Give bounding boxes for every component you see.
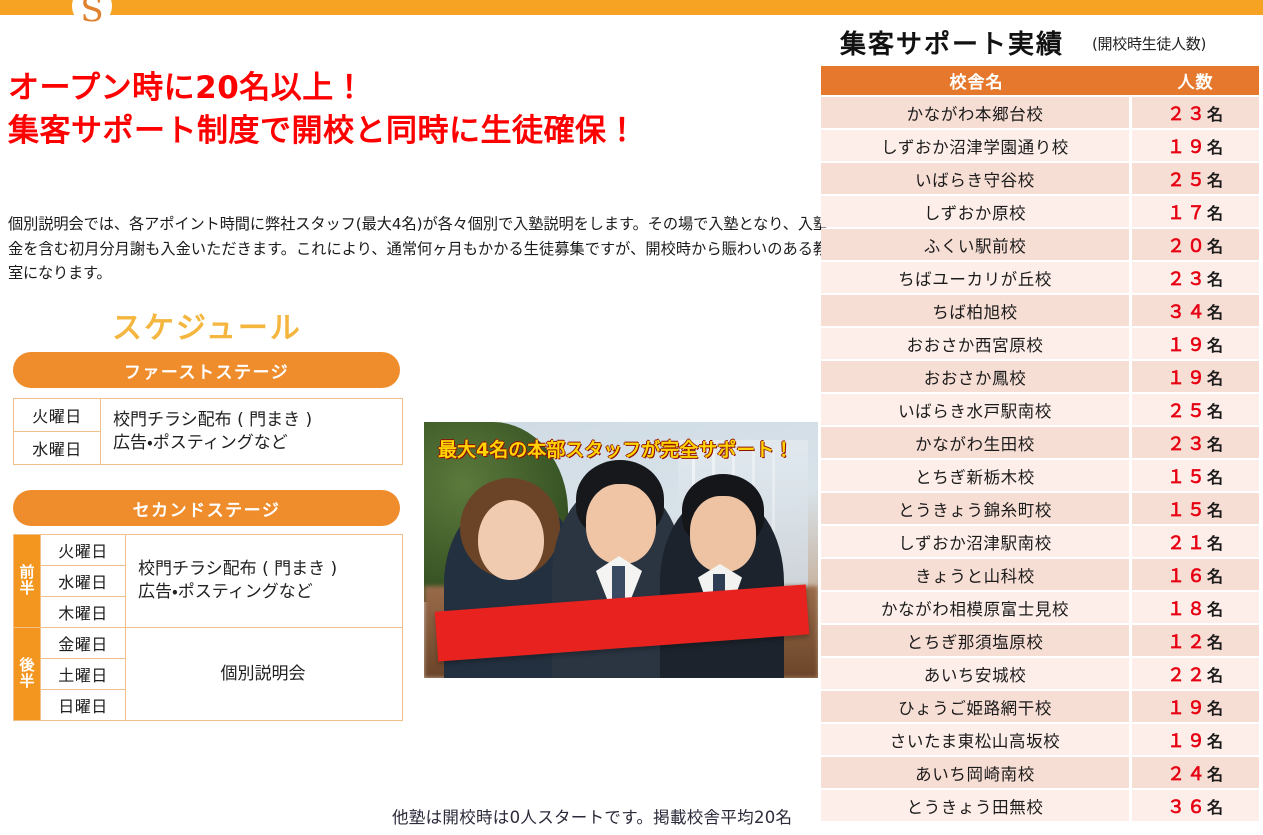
- student-count-value: １８: [1167, 599, 1207, 620]
- second-stage-pill: セカンドステージ: [13, 490, 400, 526]
- student-face: [690, 496, 756, 572]
- results-table: 校舎名 人数 かながわ本郷台校２３名しずおか沼津学園通り校１９名いばらき守谷校２…: [821, 64, 1259, 823]
- student-count-value: １５: [1167, 467, 1207, 488]
- student-count-value: １９: [1167, 137, 1207, 158]
- company-logo-s-icon: S: [80, 0, 103, 27]
- student-count-cell: ３４名: [1132, 295, 1259, 326]
- student-count-cell: ２５名: [1132, 163, 1259, 194]
- table-row: きょうと山科校１６名: [821, 559, 1259, 590]
- student-count-cell: １９名: [1132, 724, 1259, 755]
- student-count-value: １９: [1167, 698, 1207, 719]
- school-name-cell: あいち安城校: [821, 658, 1132, 689]
- results-table-subtitle: (開校時生徒人数): [1092, 33, 1206, 54]
- column-header-school: 校舎名: [821, 66, 1132, 95]
- student-count-cell: １９名: [1132, 361, 1259, 392]
- first-stage-pill: ファーストステージ: [13, 352, 400, 388]
- student-count-value: ３６: [1167, 797, 1207, 818]
- student-count-value: ２３: [1167, 104, 1207, 125]
- top-orange-band: [0, 0, 1263, 15]
- page-headline: オープン時に20名以上！ 集客サポート制度で開校と同時に生徒確保！: [8, 67, 798, 154]
- student-count-value: ２１: [1167, 533, 1207, 554]
- student-count-value: １６: [1167, 566, 1207, 587]
- second-stage-group-1-label: 後 半: [14, 628, 41, 721]
- g0-activity-line-2: 広告・ポスティングなど: [138, 581, 400, 604]
- table-row: あいち安城校２２名: [821, 658, 1259, 689]
- school-name-cell: おおさか西宮原校: [821, 328, 1132, 359]
- school-name-cell: しずおか沼津学園通り校: [821, 130, 1132, 161]
- second-stage-g1-day-2: 日曜日: [41, 690, 126, 721]
- school-name-cell: しずおか沼津駅南校: [821, 526, 1132, 557]
- first-stage-activity-line-2: 広告・ポスティングなど: [113, 432, 400, 455]
- student-count-cell: １５名: [1132, 493, 1259, 524]
- table-row: しずおか原校１７名: [821, 196, 1259, 227]
- table-row: かながわ生田校２３名: [821, 427, 1259, 458]
- headline-line-1: オープン時に20名以上！: [8, 70, 365, 106]
- table-row: かながわ相模原富士見校１８名: [821, 592, 1259, 623]
- table-row: とちぎ那須塩原校１２名: [821, 625, 1259, 656]
- student-count-value: １７: [1167, 203, 1207, 224]
- table-row: 前 半 火曜日 校門チラシ配布 ( 門まき ) 広告・ポスティングなど: [14, 535, 403, 566]
- school-name-cell: ひょうご姫路網干校: [821, 691, 1132, 722]
- student-count-value: １９: [1167, 335, 1207, 356]
- second-stage-g1-day-1: 土曜日: [41, 659, 126, 690]
- student-count-cell: １８名: [1132, 592, 1259, 623]
- student-count-cell: １６名: [1132, 559, 1259, 590]
- student-count-cell: ２３名: [1132, 97, 1259, 128]
- staff-photo: 最大4名の本部スタッフが完全サポート！: [424, 422, 818, 678]
- group-0-label-line-2: 半: [14, 581, 40, 597]
- photo-person-student: [660, 494, 784, 678]
- table-row: かながわ本郷台校２３名: [821, 97, 1259, 128]
- page-root: S オープン時に20名以上！ 集客サポート制度で開校と同時に生徒確保！ 個別説明…: [0, 0, 1263, 835]
- man-face: [586, 484, 656, 564]
- second-stage-table: 前 半 火曜日 校門チラシ配布 ( 門まき ) 広告・ポスティングなど 水曜日 …: [13, 534, 403, 721]
- first-stage-day-0: 火曜日: [14, 399, 101, 432]
- school-name-cell: さいたま東松山高坂校: [821, 724, 1132, 755]
- table-row: とちぎ新栃木校１５名: [821, 460, 1259, 491]
- student-count-cell: １２名: [1132, 625, 1259, 656]
- school-name-cell: あいち岡崎南校: [821, 757, 1132, 788]
- g0-activity-line-1: 校門チラシ配布 ( 門まき ): [138, 558, 400, 581]
- school-name-cell: いばらき守谷校: [821, 163, 1132, 194]
- table-row: 後 半 金曜日 個別説明会: [14, 628, 403, 659]
- results-table-title: 集客サポート実績: [840, 24, 1064, 61]
- student-count-value: ３４: [1167, 302, 1207, 323]
- logo-badge: S: [72, 0, 112, 26]
- student-count-value: １９: [1167, 368, 1207, 389]
- bottom-note: 他塾は開校時は0人スタートです。掲載校舎平均20名: [392, 804, 792, 828]
- results-header-row: 校舎名 人数: [821, 66, 1259, 95]
- school-name-cell: とちぎ新栃木校: [821, 460, 1132, 491]
- table-row: ひょうご姫路網干校１９名: [821, 691, 1259, 722]
- table-row: しずおか沼津学園通り校１９名: [821, 130, 1259, 161]
- second-stage-g1-day-0: 金曜日: [41, 628, 126, 659]
- student-count-cell: ２３名: [1132, 262, 1259, 293]
- student-count-value: １５: [1167, 500, 1207, 521]
- school-name-cell: とちぎ那須塩原校: [821, 625, 1132, 656]
- student-count-value: ２５: [1167, 401, 1207, 422]
- student-count-cell: １９名: [1132, 328, 1259, 359]
- school-name-cell: ちば柏旭校: [821, 295, 1132, 326]
- school-name-cell: かながわ相模原富士見校: [821, 592, 1132, 623]
- results-table-head: 校舎名 人数: [821, 66, 1259, 95]
- results-table-body: かながわ本郷台校２３名しずおか沼津学園通り校１９名いばらき守谷校２５名しずおか原…: [821, 97, 1259, 821]
- table-row: おおさか西宮原校１９名: [821, 328, 1259, 359]
- first-stage-table: 火曜日 校門チラシ配布 ( 門まき ) 広告・ポスティングなど 水曜日: [13, 398, 403, 465]
- headline-line-2: 集客サポート制度で開校と同時に生徒確保！: [8, 110, 798, 153]
- first-stage-activity: 校門チラシ配布 ( 門まき ) 広告・ポスティングなど: [101, 399, 403, 465]
- table-row: あいち岡崎南校２４名: [821, 757, 1259, 788]
- student-count-value: １９: [1167, 731, 1207, 752]
- group-1-label-line-2: 半: [14, 674, 40, 690]
- school-name-cell: おおさか鳳校: [821, 361, 1132, 392]
- school-name-cell: とうきょう田無校: [821, 790, 1132, 821]
- school-name-cell: ちばユーカリが丘校: [821, 262, 1132, 293]
- first-stage-activity-line-1: 校門チラシ配布 ( 門まき ): [113, 409, 400, 432]
- table-row: いばらき守谷校２５名: [821, 163, 1259, 194]
- second-stage-g0-activity: 校門チラシ配布 ( 門まき ) 広告・ポスティングなど: [126, 535, 403, 628]
- student-count-value: ２４: [1167, 764, 1207, 785]
- photo-banner-text: 最大4名の本部スタッフが完全サポート！: [438, 435, 784, 462]
- student-count-cell: １９名: [1132, 130, 1259, 161]
- student-count-cell: ２０名: [1132, 229, 1259, 260]
- column-header-count: 人数: [1132, 66, 1259, 95]
- student-count-cell: ２１名: [1132, 526, 1259, 557]
- table-row: ふくい駅前校２０名: [821, 229, 1259, 260]
- second-stage-group-0-label: 前 半: [14, 535, 41, 628]
- school-name-cell: しずおか原校: [821, 196, 1132, 227]
- second-stage-g0-day-2: 木曜日: [41, 597, 126, 628]
- student-count-cell: ２３名: [1132, 427, 1259, 458]
- school-name-cell: かながわ本郷台校: [821, 97, 1132, 128]
- schedule-title: スケジュール: [112, 303, 302, 347]
- student-count-value: １２: [1167, 632, 1207, 653]
- student-count-cell: ２２名: [1132, 658, 1259, 689]
- table-row: 火曜日 校門チラシ配布 ( 門まき ) 広告・ポスティングなど: [14, 399, 403, 432]
- table-row: ちば柏旭校３４名: [821, 295, 1259, 326]
- student-count-cell: １５名: [1132, 460, 1259, 491]
- student-count-value: ２３: [1167, 269, 1207, 290]
- student-count-value: ２２: [1167, 665, 1207, 686]
- student-count-value: ２０: [1167, 236, 1207, 257]
- second-stage-g1-activity: 個別説明会: [126, 628, 403, 721]
- second-stage-g0-day-1: 水曜日: [41, 566, 126, 597]
- school-name-cell: とうきょう錦糸町校: [821, 493, 1132, 524]
- student-count-cell: ２４名: [1132, 757, 1259, 788]
- table-row: しずおか沼津駅南校２１名: [821, 526, 1259, 557]
- second-stage-g0-day-0: 火曜日: [41, 535, 126, 566]
- intro-paragraph: 個別説明会では、各アポイント時間に弊社スタッフ(最大4名)が各々個別で入塾説明を…: [8, 212, 828, 286]
- student-count-value: ２５: [1167, 170, 1207, 191]
- school-name-cell: きょうと山科校: [821, 559, 1132, 590]
- first-stage-day-1: 水曜日: [14, 432, 101, 465]
- student-count-cell: ２５名: [1132, 394, 1259, 425]
- student-count-cell: ３６名: [1132, 790, 1259, 821]
- table-row: いばらき水戸駅南校２５名: [821, 394, 1259, 425]
- student-count-value: ２３: [1167, 434, 1207, 455]
- table-row: とうきょう田無校３６名: [821, 790, 1259, 821]
- woman-face: [478, 500, 544, 580]
- table-row: とうきょう錦糸町校１５名: [821, 493, 1259, 524]
- school-name-cell: ふくい駅前校: [821, 229, 1132, 260]
- table-row: おおさか鳳校１９名: [821, 361, 1259, 392]
- student-count-cell: １７名: [1132, 196, 1259, 227]
- student-count-cell: １９名: [1132, 691, 1259, 722]
- table-row: ちばユーカリが丘校２３名: [821, 262, 1259, 293]
- table-row: さいたま東松山高坂校１９名: [821, 724, 1259, 755]
- school-name-cell: かながわ生田校: [821, 427, 1132, 458]
- school-name-cell: いばらき水戸駅南校: [821, 394, 1132, 425]
